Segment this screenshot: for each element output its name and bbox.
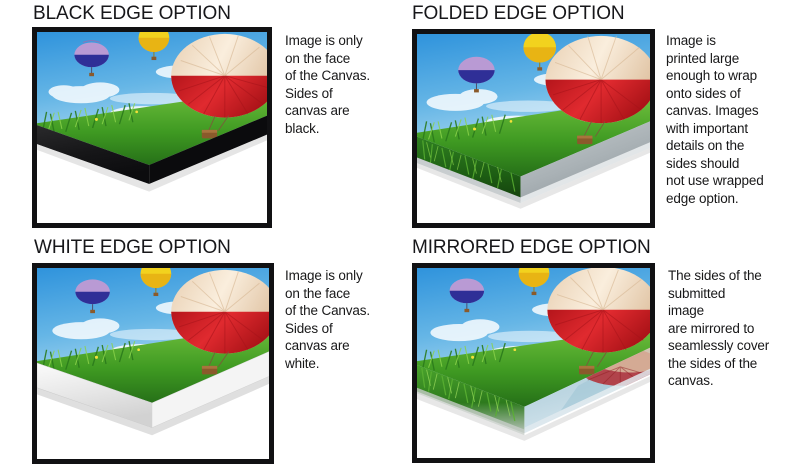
panel-caption-folded-edge: Image is printed large enough to wrap on… — [666, 32, 792, 207]
panel-white-edge: WHITE EDGE OPTION — [0, 237, 400, 475]
canvas-illustration-black-edge — [37, 32, 267, 223]
canvas-frame-folded-edge — [412, 29, 655, 228]
panel-title-black-edge: BLACK EDGE OPTION — [33, 4, 231, 23]
canvas-illustration-folded-edge — [417, 34, 650, 223]
panel-title-folded-edge: FOLDED EDGE OPTION — [412, 4, 625, 23]
panel-caption-black-edge: Image is only on the face of the Canvas.… — [285, 32, 397, 137]
canvas-frame-black-edge — [32, 27, 272, 228]
panel-folded-edge: FOLDED EDGE OPTION — [400, 0, 800, 237]
canvas-edge-options-sheet: BLACK EDGE OPTION — [0, 0, 800, 475]
canvas-frame-white-edge — [32, 263, 274, 464]
canvas-illustration-white-edge — [37, 268, 269, 459]
panel-title-mirrored-edge: MIRRORED EDGE OPTION — [412, 238, 651, 257]
canvas-illustration-mirrored-edge — [417, 268, 650, 458]
canvas-frame-mirrored-edge — [412, 263, 655, 463]
panel-title-white-edge: WHITE EDGE OPTION — [34, 238, 231, 257]
panel-mirrored-edge: MIRRORED EDGE OPTION — [400, 237, 800, 475]
panel-caption-white-edge: Image is only on the face of the Canvas.… — [285, 267, 397, 372]
panel-black-edge: BLACK EDGE OPTION — [0, 0, 400, 237]
panel-caption-mirrored-edge: The sides of the submitted image are mir… — [668, 267, 796, 390]
